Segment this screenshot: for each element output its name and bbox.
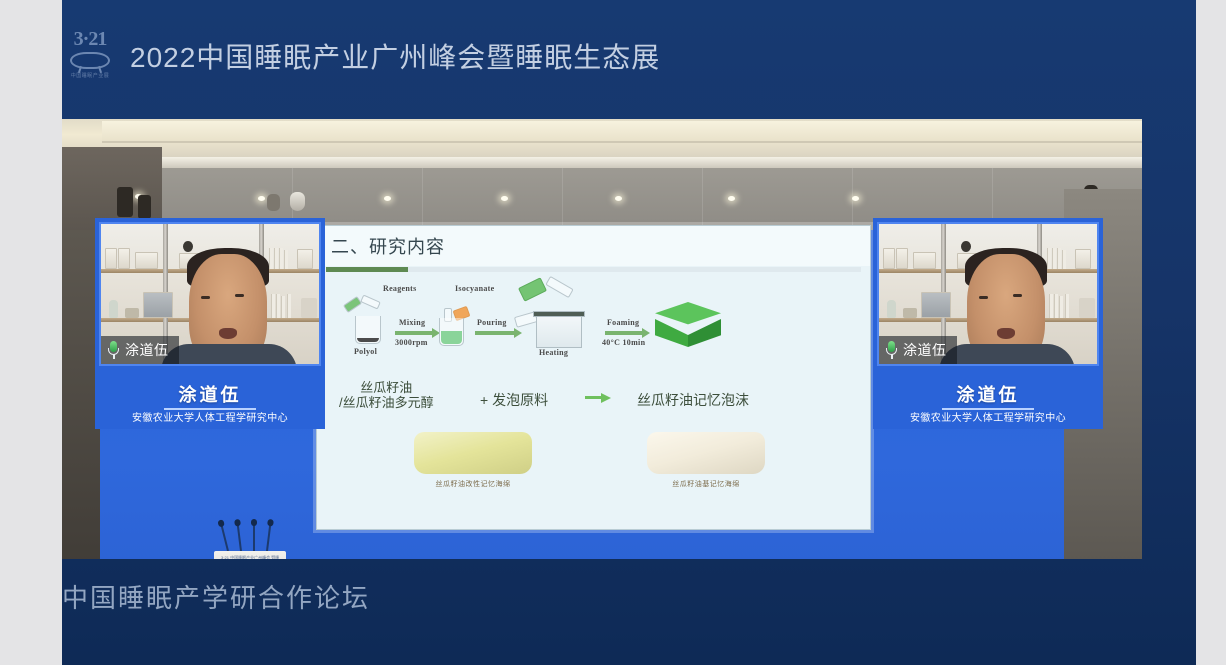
process-label-heating: Heating <box>539 348 568 357</box>
podium-microphone-icon <box>253 523 255 551</box>
slide-title: 二、研究内容 <box>317 233 445 259</box>
speaker-affiliation: 安徽农业大学人体工程学研究中心 <box>95 412 325 425</box>
process-arrow-mixing <box>395 331 433 335</box>
event-header: 3·21 中国睡眠产业展 2022中国睡眠产业广州峰会暨睡眠生态展 <box>62 26 660 86</box>
speaker-affiliation: 安徽农业大学人体工程学研究中心 <box>873 412 1103 425</box>
shelf-binder <box>118 248 130 269</box>
speaker-mic-overlay-right: 涂道伍 <box>879 336 957 364</box>
speaker-caption-right: 涂道伍 安徽农业大学人体工程学研究中心 <box>873 383 1103 425</box>
sample-caption-right: 丝瓜籽油基记忆海绵 <box>637 479 775 489</box>
speaker-video-right[interactable]: 涂道伍 <box>877 222 1099 366</box>
speaker-mouth <box>997 328 1015 339</box>
mic-overlay-name: 涂道伍 <box>903 340 947 360</box>
shelf-decor <box>887 300 896 318</box>
venue-fixture <box>138 195 151 219</box>
video-stream[interactable]: 3·21 中国睡眠产业广州峰会 暨睡眠生态展 2022 广州 二、研究内容 <box>62 119 1142 559</box>
shelf-book <box>271 294 275 318</box>
process-label-foaming: Foaming <box>607 318 639 327</box>
process-label-pouring: Pouring <box>477 318 507 327</box>
speaker-eye <box>1013 294 1022 297</box>
shelf-book <box>274 248 278 269</box>
shelf-book <box>1059 296 1063 318</box>
mold-box-opening <box>533 311 585 317</box>
venue-fixture <box>117 187 133 217</box>
logo-bed-shape <box>70 52 110 69</box>
shelf-book <box>287 294 291 318</box>
venue-ceiling-lip <box>62 157 1142 168</box>
speaker-panel-left[interactable]: 涂道伍 涂道伍 安徽农业大学人体工程学研究中心 <box>95 218 325 429</box>
shelf-camera-icon <box>961 241 971 252</box>
shelf-binder <box>883 248 895 269</box>
ceiling-speaker-icon <box>267 194 280 211</box>
shelf-box <box>135 252 158 269</box>
broadcast-frame: 3·21 中国睡眠产业展 2022中国睡眠产业广州峰会暨睡眠生态展 <box>62 0 1196 665</box>
speaker-eye <box>235 294 244 297</box>
shelf-book <box>1054 294 1058 318</box>
ceiling-spotlight-icon <box>384 196 391 201</box>
shelf-box <box>301 298 317 318</box>
shelf-box <box>913 252 936 269</box>
shelf-decor <box>109 300 118 318</box>
speaker-eye <box>979 296 988 299</box>
speaker-mouth <box>219 328 237 339</box>
slide-progress-fill <box>326 267 408 272</box>
microphone-icon <box>107 341 120 359</box>
mic-overlay-name: 涂道伍 <box>125 340 169 360</box>
sample-pillow-right <box>647 432 765 474</box>
formula-arrow-icon <box>585 393 611 401</box>
shelf-book <box>1049 294 1053 318</box>
presentation-slide: 二、研究内容 Reagents Polyol Mixing <box>316 225 871 530</box>
wall-panel-line <box>562 168 563 230</box>
shelf-decor <box>903 308 917 318</box>
speaker-mic-overlay-left: 涂道伍 <box>101 336 179 364</box>
process-diagram: Reagents Polyol Mixing 3000rpm Isocyanat… <box>317 278 870 374</box>
wall-panel-line <box>702 168 703 230</box>
sample-pillow-left <box>414 432 532 474</box>
slide-progress-track <box>326 267 861 272</box>
mold-lid-icon <box>545 276 573 298</box>
screenshot-root: 3·21 中国睡眠产业展 2022中国睡眠产业广州峰会暨睡眠生态展 <box>0 0 1226 665</box>
shelf-book <box>1057 248 1061 269</box>
logo-subtext: 中国睡眠产业展 <box>64 72 116 79</box>
speaker-caption-left: 涂道伍 安徽农业大学人体工程学研究中心 <box>95 383 325 425</box>
process-arrow-pouring <box>475 331 515 335</box>
process-label-reagents: Reagents <box>383 284 417 293</box>
speaker-name-underline <box>942 408 1034 410</box>
ceiling-spotlight-icon <box>615 196 622 201</box>
speaker-name: 涂道伍 <box>95 383 325 407</box>
speaker-torso <box>161 344 297 366</box>
venue-ceiling-cove <box>102 121 1142 143</box>
podium-logo: 3·21 中国睡眠产业广州峰会 暨睡眠生态展 <box>221 555 279 559</box>
shelf-box <box>1079 298 1095 318</box>
shelf-book <box>269 248 273 269</box>
process-label-isocyanate: Isocyanate <box>455 284 494 293</box>
polyol-beaker-icon <box>355 316 381 344</box>
process-label-mixing: Mixing <box>399 318 425 327</box>
formula-product: 丝瓜籽油记忆泡沫 <box>637 390 749 410</box>
speaker-name-underline <box>164 408 256 410</box>
sample-caption-left: 丝瓜籽油改性记忆海绵 <box>404 479 542 489</box>
ceiling-spotlight-icon <box>258 196 265 201</box>
shelf-binder <box>896 248 908 269</box>
logo-number: 3·21 <box>64 28 116 51</box>
process-label-foaming-condition: 40°C 10min <box>602 338 645 347</box>
shelf-binder <box>297 249 313 269</box>
formula-row: 丝瓜籽油 /丝瓜籽油多元醇 + 发泡原料 丝瓜籽油记忆泡沫 <box>317 378 870 422</box>
shelf-binder <box>105 248 117 269</box>
shelf-book <box>1047 248 1051 269</box>
speaker-eye <box>201 296 210 299</box>
microphone-icon <box>885 341 898 359</box>
wall-panel-line <box>422 168 423 230</box>
mixing-beaker-icon <box>439 318 464 346</box>
formula-additive: + 发泡原料 <box>480 390 548 410</box>
reagent-pipette-icon <box>360 294 381 309</box>
shelf-book <box>279 248 283 269</box>
formula-reactant-line1: 丝瓜籽油 <box>360 380 412 395</box>
shelf-camera-icon <box>183 241 193 252</box>
process-label-polyol: Polyol <box>354 347 377 356</box>
shelf-box <box>921 292 951 318</box>
event-title: 2022中国睡眠产业广州峰会暨睡眠生态展 <box>130 36 660 76</box>
pour-vial-icon <box>518 277 547 301</box>
speaker-torso <box>939 344 1075 366</box>
reagent-vial-icon <box>343 296 362 313</box>
formula-reactant: 丝瓜籽油 /丝瓜籽油多元醇 <box>339 380 434 410</box>
shelf-book <box>284 250 288 269</box>
process-arrow-foaming <box>605 331 643 335</box>
forum-footer-title: 中国睡眠产学研合作论坛 <box>62 578 370 615</box>
ceiling-spotlight-icon <box>728 196 735 201</box>
shelf-book <box>281 296 285 318</box>
slide-title-bar: 二、研究内容 <box>317 226 870 266</box>
shelf-book <box>1062 250 1066 269</box>
speaker-name: 涂道伍 <box>873 383 1103 407</box>
ceiling-spotlight-icon <box>852 196 859 201</box>
shelf-decor <box>125 308 139 318</box>
speaker-panel-right[interactable]: 涂道伍 涂道伍 安徽农业大学人体工程学研究中心 <box>873 218 1103 429</box>
event-logo-icon: 3·21 中国睡眠产业展 <box>64 28 116 84</box>
process-label-mixing-speed: 3000rpm <box>395 338 428 347</box>
foam-cube-right <box>688 319 721 347</box>
shelf-book <box>1065 294 1069 318</box>
ceiling-spotlight-icon <box>501 196 508 201</box>
foam-cube-left <box>655 319 688 347</box>
shelf-box <box>143 292 173 318</box>
speaker-video-left[interactable]: 涂道伍 <box>99 222 321 366</box>
shelf-book <box>1052 248 1056 269</box>
shelf-book <box>276 294 280 318</box>
formula-reactant-line2: /丝瓜籽油多元醇 <box>339 395 434 410</box>
mold-box-icon <box>536 316 582 348</box>
shelf-binder <box>1075 249 1091 269</box>
ceiling-camera-icon <box>290 192 305 211</box>
